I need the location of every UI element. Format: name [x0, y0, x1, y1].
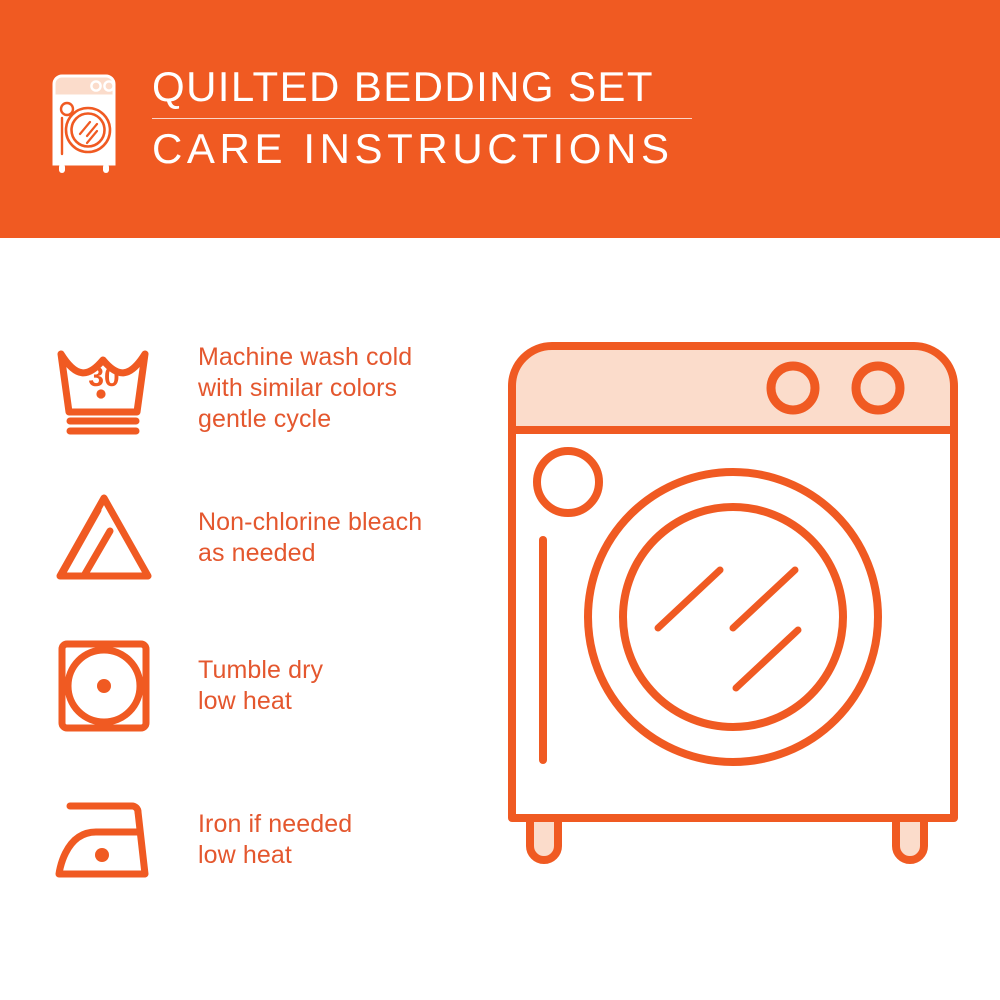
care-text-line: low heat [198, 840, 352, 871]
care-instruction-text: Tumble dry low heat [198, 655, 323, 717]
tumble-dry-low-heat-icon [48, 636, 160, 736]
care-text-line: gentle cycle [198, 404, 412, 435]
knob-left [771, 366, 815, 410]
care-instructions-page: QUILTED BEDDING SET CARE INSTRUCTIONS [0, 0, 1000, 1000]
non-chlorine-bleach-triangle-icon [48, 488, 160, 588]
knob-right [856, 366, 900, 410]
care-text-line: Non-chlorine bleach [198, 507, 422, 538]
leg-left [530, 818, 558, 860]
care-instruction-text: Non-chlorine bleach as needed [198, 507, 422, 569]
header-content: QUILTED BEDDING SET CARE INSTRUCTIONS [48, 64, 692, 178]
page-title-primary: QUILTED BEDDING SET [152, 64, 692, 116]
care-instruction-text: Machine wash cold with similar colors ge… [198, 342, 412, 435]
care-instruction-text: Iron if needed low heat [198, 809, 352, 871]
care-text-line: Tumble dry [198, 655, 323, 686]
washing-machine-illustration [488, 330, 978, 930]
care-text-line: with similar colors [198, 373, 412, 404]
leg-right [896, 818, 924, 860]
care-instruction-item: Tumble dry low heat [48, 636, 488, 736]
header-banner: QUILTED BEDDING SET CARE INSTRUCTIONS [0, 0, 1000, 238]
care-text-line: low heat [198, 686, 323, 717]
title-divider [152, 118, 692, 119]
care-instruction-item: 30 Machine wash cold with similar colors… [48, 338, 488, 438]
care-text-line: Iron if needed [198, 809, 352, 840]
header-titles: QUILTED BEDDING SET CARE INSTRUCTIONS [152, 64, 692, 173]
care-text-line: as needed [198, 538, 422, 569]
care-text-line: Machine wash cold [198, 342, 412, 373]
care-instructions-list: 30 Machine wash cold with similar colors… [0, 238, 500, 1000]
care-instruction-item: Non-chlorine bleach as needed [48, 488, 488, 588]
machine-wash-30-icon: 30 [48, 338, 160, 438]
washing-machine-logo-icon [48, 70, 120, 178]
page-title-secondary: CARE INSTRUCTIONS [152, 125, 692, 173]
iron-low-heat-icon [48, 790, 160, 890]
care-instruction-item: Iron if needed low heat [48, 790, 488, 890]
wash-temperature-value: 30 [88, 361, 119, 392]
